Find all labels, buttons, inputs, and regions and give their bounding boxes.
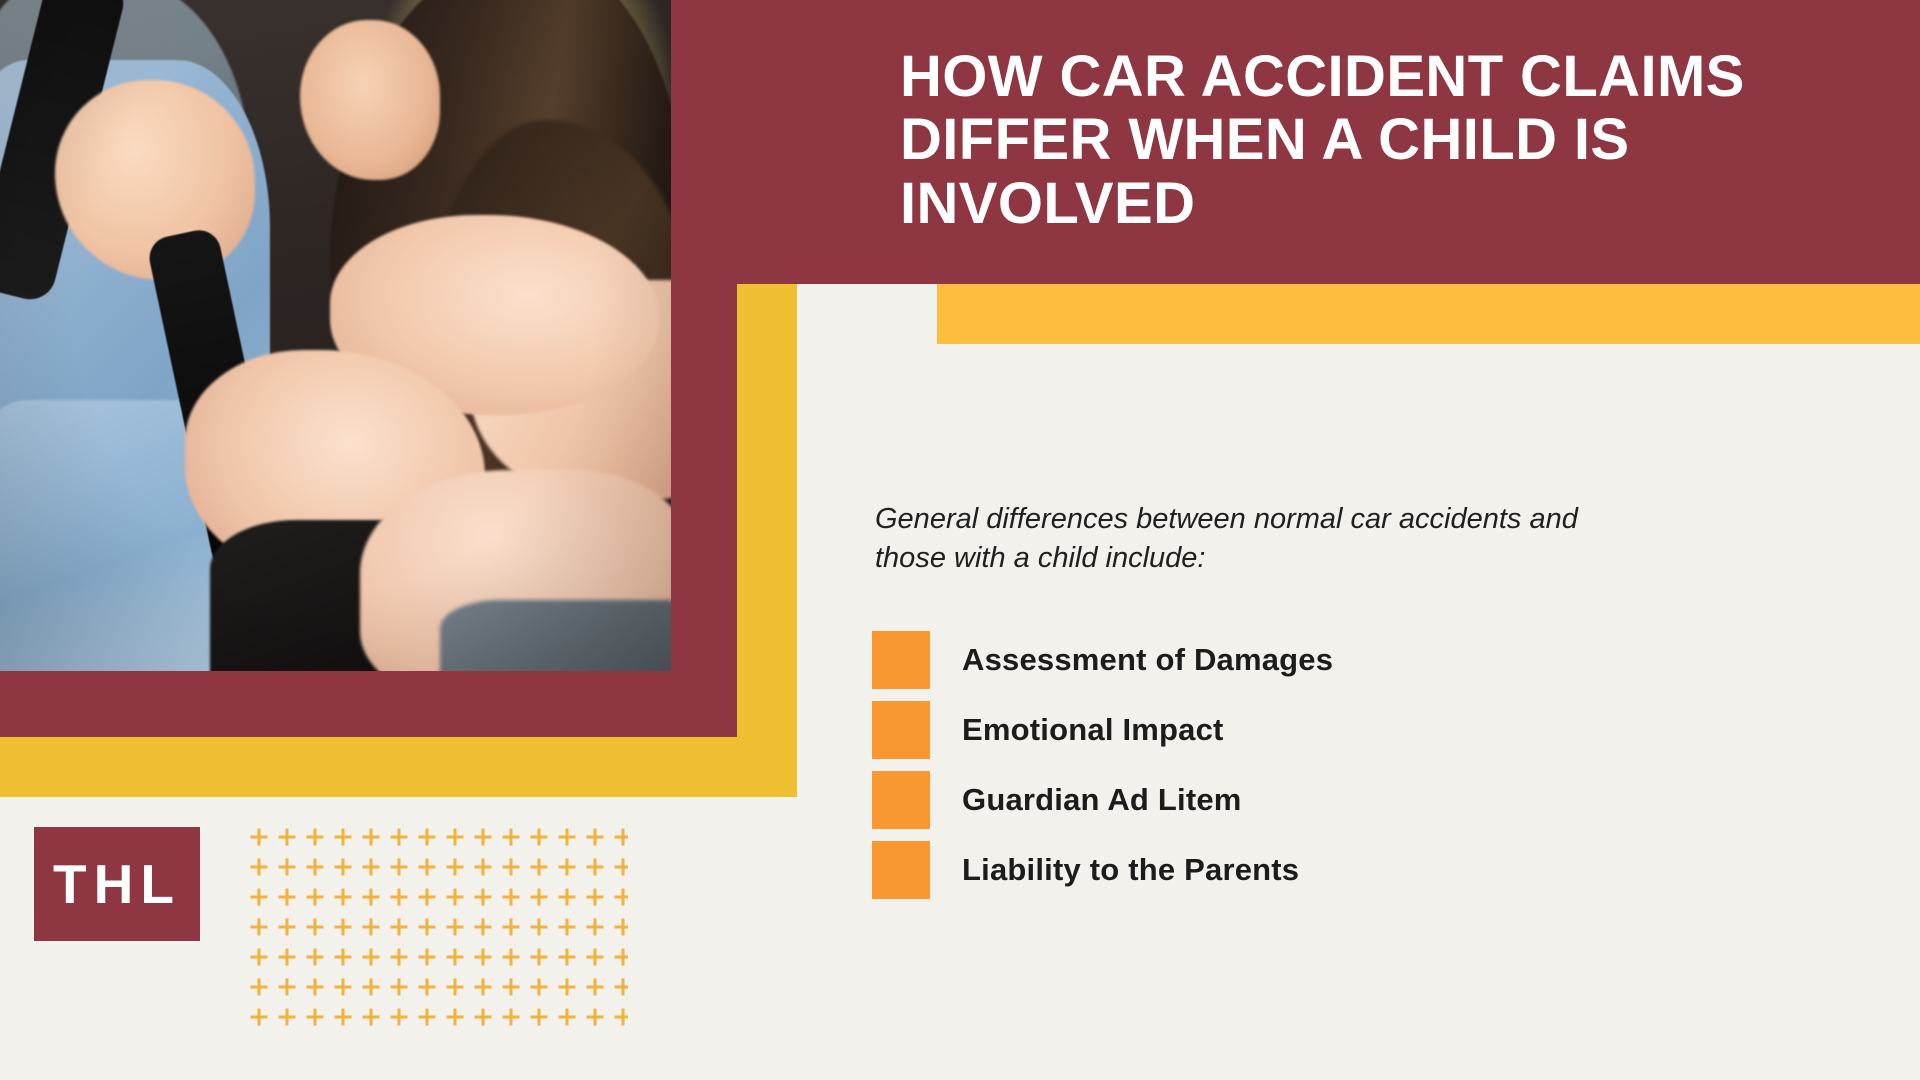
list-item-label: Assessment of Damages <box>962 642 1333 678</box>
thl-logo[interactable]: THL <box>34 827 200 941</box>
plus-grid-decoration <box>250 828 628 1034</box>
square-bullet-icon <box>872 771 930 829</box>
list-item: Emotional Impact <box>872 695 1692 765</box>
left-photo-composition <box>0 0 797 797</box>
list-item-label: Emotional Impact <box>962 712 1224 748</box>
title-banner: HOW CAR ACCIDENT CLAIMS DIFFER WHEN A CH… <box>710 0 1920 284</box>
square-bullet-icon <box>872 701 930 759</box>
square-bullet-icon <box>872 631 930 689</box>
list-item: Liability to the Parents <box>872 835 1692 905</box>
thl-logo-text: THL <box>53 857 181 912</box>
photo-layer-vignette <box>0 0 671 671</box>
plus-grid-icon <box>250 828 628 1034</box>
title-accent-bar <box>937 284 1920 344</box>
intro-paragraph: General differences between normal car a… <box>875 500 1655 578</box>
square-bullet-icon <box>872 841 930 899</box>
list-item: Guardian Ad Litem <box>872 765 1692 835</box>
list-item-label: Liability to the Parents <box>962 852 1299 888</box>
hero-photo <box>0 0 671 671</box>
page-title: HOW CAR ACCIDENT CLAIMS DIFFER WHEN A CH… <box>710 45 1920 239</box>
differences-list: Assessment of Damages Emotional Impact G… <box>872 625 1692 905</box>
list-item: Assessment of Damages <box>872 625 1692 695</box>
list-item-label: Guardian Ad Litem <box>962 782 1242 818</box>
